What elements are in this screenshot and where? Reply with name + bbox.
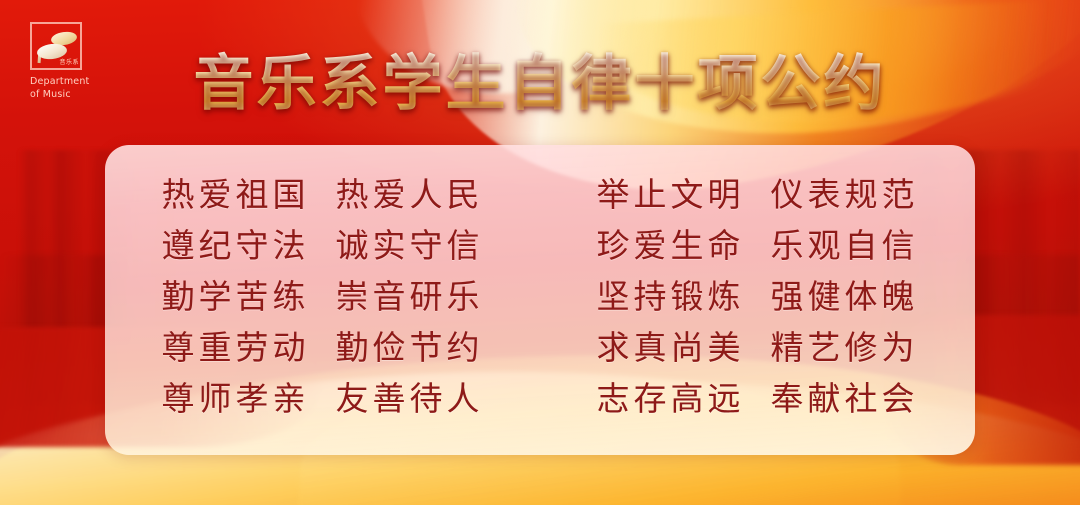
pledge-phrase: 勤俭节约 (336, 329, 484, 367)
pledge-phrase: 强健体魄 (771, 278, 919, 316)
pledge-phrase: 仪表规范 (771, 176, 919, 214)
pledge-phrase: 奉献社会 (771, 380, 919, 418)
pledge-phrase: 尊重劳动 (162, 329, 310, 367)
pledge-row: 勤学苦练崇音研乐坚持锻炼强健体魄 (105, 271, 975, 322)
pledge-phrase: 热爱祖国 (162, 176, 310, 214)
pledge-rows: 热爱祖国热爱人民举止文明仪表规范遵纪守法诚实守信珍爱生命乐观自信勤学苦练崇音研乐… (105, 169, 975, 424)
pledge-column-right: 求真尚美精艺修为 (540, 329, 975, 367)
pledge-column-right: 坚持锻炼强健体魄 (540, 278, 975, 316)
pledge-column-right: 举止文明仪表规范 (540, 176, 975, 214)
pledge-phrase: 举止文明 (597, 176, 745, 214)
pledge-phrase: 诚实守信 (336, 227, 484, 265)
pledge-row: 遵纪守法诚实守信珍爱生命乐观自信 (105, 220, 975, 271)
page-title: 音乐系学生自律十项公约 (0, 48, 1080, 120)
pledge-column-left: 尊重劳动勤俭节约 (105, 329, 540, 367)
pledge-column-left: 勤学苦练崇音研乐 (105, 278, 540, 316)
pledge-phrase: 崇音研乐 (336, 278, 484, 316)
poster-banner: 音乐系 Department of Music 音乐系学生自律十项公约 热爱祖国… (0, 0, 1080, 505)
pledge-phrase: 求真尚美 (597, 329, 745, 367)
pledge-phrase: 坚持锻炼 (597, 278, 745, 316)
pledge-panel: 热爱祖国热爱人民举止文明仪表规范遵纪守法诚实守信珍爱生命乐观自信勤学苦练崇音研乐… (105, 145, 975, 455)
pledge-column-right: 珍爱生命乐观自信 (540, 227, 975, 265)
pledge-row: 尊重劳动勤俭节约求真尚美精艺修为 (105, 322, 975, 373)
pledge-phrase: 志存高远 (597, 380, 745, 418)
pledge-phrase: 精艺修为 (771, 329, 919, 367)
pledge-phrase: 友善待人 (336, 380, 484, 418)
pledge-phrase: 乐观自信 (771, 227, 919, 265)
pledge-column-left: 遵纪守法诚实守信 (105, 227, 540, 265)
pledge-column-left: 尊师孝亲友善待人 (105, 380, 540, 418)
pledge-column-left: 热爱祖国热爱人民 (105, 176, 540, 214)
pledge-phrase: 尊师孝亲 (162, 380, 310, 418)
pledge-column-right: 志存高远奉献社会 (540, 380, 975, 418)
pledge-phrase: 珍爱生命 (597, 227, 745, 265)
pledge-row: 尊师孝亲友善待人志存高远奉献社会 (105, 373, 975, 424)
pledge-row: 热爱祖国热爱人民举止文明仪表规范 (105, 169, 975, 220)
pledge-phrase: 遵纪守法 (162, 227, 310, 265)
pledge-phrase: 热爱人民 (336, 176, 484, 214)
pledge-phrase: 勤学苦练 (162, 278, 310, 316)
